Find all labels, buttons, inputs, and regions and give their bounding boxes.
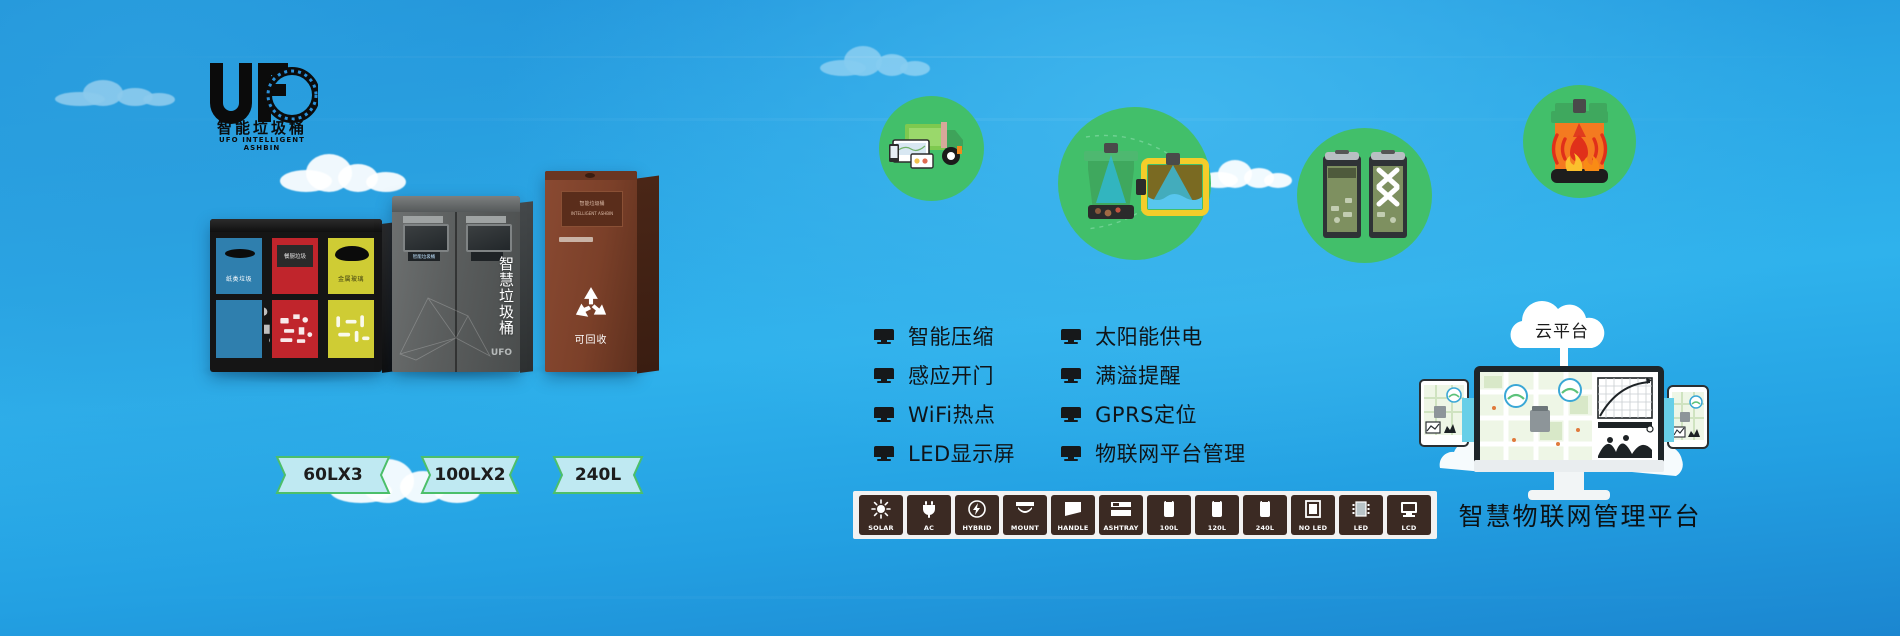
product-bin-100lx2: 智能垃圾桶 智慧垃圾桶 UFO: [392, 196, 520, 372]
feature-item: 满溢提醒: [1061, 361, 1246, 389]
monitor-icon: [874, 446, 894, 461]
bin-100l-icon: [1147, 498, 1191, 520]
bin-lid: [210, 219, 382, 232]
bin-lid: [392, 196, 520, 212]
bin-120l-icon: [1195, 498, 1239, 520]
led-icon: [1339, 498, 1383, 520]
badge-compaction-bins: [1297, 128, 1432, 263]
monitor-icon: [1061, 407, 1081, 422]
feature-item: 智能压缩: [874, 322, 1015, 350]
monitor-icon: [874, 407, 894, 422]
spec-label: MOUNT: [1003, 524, 1047, 532]
ribbon-label: 60LX3: [275, 465, 391, 485]
badge-fire-alarm: [1523, 85, 1636, 198]
bin-240l-icon: [1243, 498, 1287, 520]
badge-collection-truck-monitoring: [879, 96, 984, 201]
handle-icon: [1051, 498, 1095, 520]
feature-item: 太阳能供电: [1061, 322, 1246, 350]
bin-deposit-window: [403, 224, 449, 252]
spec-icon-mount[interactable]: MOUNT: [1003, 495, 1047, 535]
capacity-ribbon-240l: 240L: [552, 455, 644, 495]
recycle-icon: [569, 283, 613, 327]
bin-brand-emboss: UFO: [491, 348, 512, 358]
bin-status-screen: 智能垃圾桶: [408, 252, 440, 261]
feature-item: WiFi热点: [874, 400, 1015, 428]
bin-top-label: [403, 216, 443, 223]
cloud-decoration: [820, 44, 930, 78]
spec-icon-120l[interactable]: 120L: [1195, 495, 1239, 535]
feature-column-left: 智能压缩 感应开门 WiFi热点 LED显示屏: [874, 322, 1015, 467]
screen-line-1: 智能垃圾桶: [562, 200, 622, 208]
bin-recycle-label: 可回收: [545, 331, 637, 346]
compartment-label: 纸类垃圾: [216, 274, 262, 283]
platform-title: 智慧物联网管理平台: [1430, 497, 1730, 533]
compartment-label: 金属玻璃: [328, 274, 374, 283]
bin-door-kitchen: [270, 298, 320, 360]
sun-icon: [859, 498, 903, 520]
bin-compartment-paper: 纸类垃圾: [214, 236, 264, 296]
collection-truck-icon: [879, 96, 984, 201]
cloud-decoration: [280, 150, 410, 194]
monitor-icon: [1061, 329, 1081, 344]
capacity-ribbon-60lx3: 60LX3: [275, 455, 391, 495]
bin-door-metal: [326, 298, 376, 360]
feature-label: LED显示屏: [908, 438, 1015, 468]
feature-label: WiFi热点: [908, 399, 996, 429]
cloud-decoration: [1200, 158, 1292, 190]
feature-item: 感应开门: [874, 361, 1015, 389]
spec-icon-solar[interactable]: SOLAR: [859, 495, 903, 535]
iot-platform-illustration: [1418, 348, 1718, 508]
fire-alarm-icon: [1523, 85, 1636, 198]
ribbon-label: 240L: [552, 465, 644, 485]
compartment-screen-label: 餐厨垃圾: [277, 252, 313, 260]
spec-label: NO LED: [1291, 524, 1335, 532]
feature-label: 满溢提醒: [1095, 360, 1181, 390]
spec-label: LED: [1339, 524, 1383, 532]
bin-side-panel: [637, 175, 659, 373]
light-streak: [0, 596, 1900, 599]
spec-icon-ac[interactable]: AC: [907, 495, 951, 535]
logo-name-cn: 智能垃圾桶: [204, 117, 320, 138]
spec-label: ASHTRAY: [1099, 524, 1143, 532]
monitor-icon: [1061, 446, 1081, 461]
banner-stage: 智能垃圾桶 UFO INTELLIGENT ASHBIN 纸类垃圾 餐厨垃圾: [0, 0, 1900, 636]
devices-illustration-icon: [1418, 348, 1718, 508]
screen-line-2: INTELLIGENT ASHBIN: [562, 210, 622, 218]
feature-item: LED显示屏: [874, 439, 1015, 467]
bin-side-panel: [520, 201, 533, 373]
bin-compartment-metal: 金属玻璃: [326, 236, 376, 296]
spec-label: HANDLE: [1051, 524, 1095, 532]
plug-icon: [907, 498, 951, 520]
spec-icon-handle[interactable]: HANDLE: [1051, 495, 1095, 535]
spec-label: LCD: [1387, 524, 1431, 532]
cloud-decoration: [55, 78, 175, 108]
bin-side-text: 智慧垃圾桶: [494, 256, 514, 336]
brand-logo: 智能垃圾桶 UFO INTELLIGENT ASHBIN: [206, 57, 318, 152]
product-bin-60lx3: 纸类垃圾 餐厨垃圾 . 金属玻璃: [210, 219, 382, 372]
bin-top-label: [466, 216, 506, 223]
bin-handle: [559, 237, 593, 242]
bin-door-paper: [214, 298, 264, 360]
feature-item: 物联网平台管理: [1061, 439, 1246, 467]
ashtray-icon: [1099, 498, 1143, 520]
spec-icon-no-led[interactable]: NO LED: [1291, 495, 1335, 535]
feature-column-right: 太阳能供电 满溢提醒 GPRS定位 物联网平台管理: [1061, 322, 1246, 467]
feature-list: 智能压缩 感应开门 WiFi热点 LED显示屏 太阳能供电 满溢提醒: [874, 322, 1246, 467]
hybrid-power-icon: [955, 498, 999, 520]
feature-label: 智能压缩: [908, 321, 994, 351]
feature-label: 物联网平台管理: [1095, 438, 1246, 468]
spec-icon-hybrid[interactable]: HYBRID: [955, 495, 999, 535]
logo-name-en: UFO INTELLIGENT ASHBIN: [204, 136, 320, 152]
spec-icon-strip: SOLAR AC HYBRID MOUNT: [853, 491, 1437, 539]
monitor-icon: [1061, 368, 1081, 383]
spec-label: 120L: [1195, 524, 1239, 532]
spec-label: 100L: [1147, 524, 1191, 532]
waste-illustration-icon: [273, 301, 319, 359]
monitor-icon: [874, 329, 894, 344]
badge-fill-level-sensor: [1058, 107, 1211, 260]
feature-label: 太阳能供电: [1095, 321, 1203, 351]
spec-icon-led[interactable]: LED: [1339, 495, 1383, 535]
wall-mount-icon: [1003, 498, 1047, 520]
cloud-platform-label: 云平台: [1498, 317, 1626, 342]
bin-deposit-window: [466, 224, 512, 252]
spec-label: HYBRID: [955, 524, 999, 532]
feature-item: GPRS定位: [1061, 400, 1246, 428]
spec-icon-100l[interactable]: 100L: [1147, 495, 1191, 535]
bin-compartment-kitchen: 餐厨垃圾 .: [270, 236, 320, 296]
spec-label: SOLAR: [859, 524, 903, 532]
spec-icon-240l[interactable]: 240L: [1243, 495, 1287, 535]
capacity-ribbon-100lx2: 100LX2: [420, 455, 520, 495]
fill-sensor-icon: [1058, 107, 1211, 260]
spec-icon-ashtray[interactable]: ASHTRAY: [1099, 495, 1143, 535]
waste-illustration-icon: [329, 301, 375, 359]
spec-label: 240L: [1243, 524, 1287, 532]
no-led-icon: [1291, 498, 1335, 520]
bin-display-screen: 智能垃圾桶 INTELLIGENT ASHBIN: [561, 191, 623, 227]
compaction-bins-icon: [1297, 128, 1432, 263]
monitor-icon: [874, 368, 894, 383]
spec-label: AC: [907, 524, 951, 532]
feature-label: GPRS定位: [1095, 399, 1197, 429]
feature-label: 感应开门: [908, 360, 994, 390]
sensor-dot-icon: [585, 173, 595, 178]
ribbon-label: 100LX2: [420, 465, 520, 485]
product-bin-240l: 智能垃圾桶 INTELLIGENT ASHBIN 可回收: [545, 171, 637, 372]
